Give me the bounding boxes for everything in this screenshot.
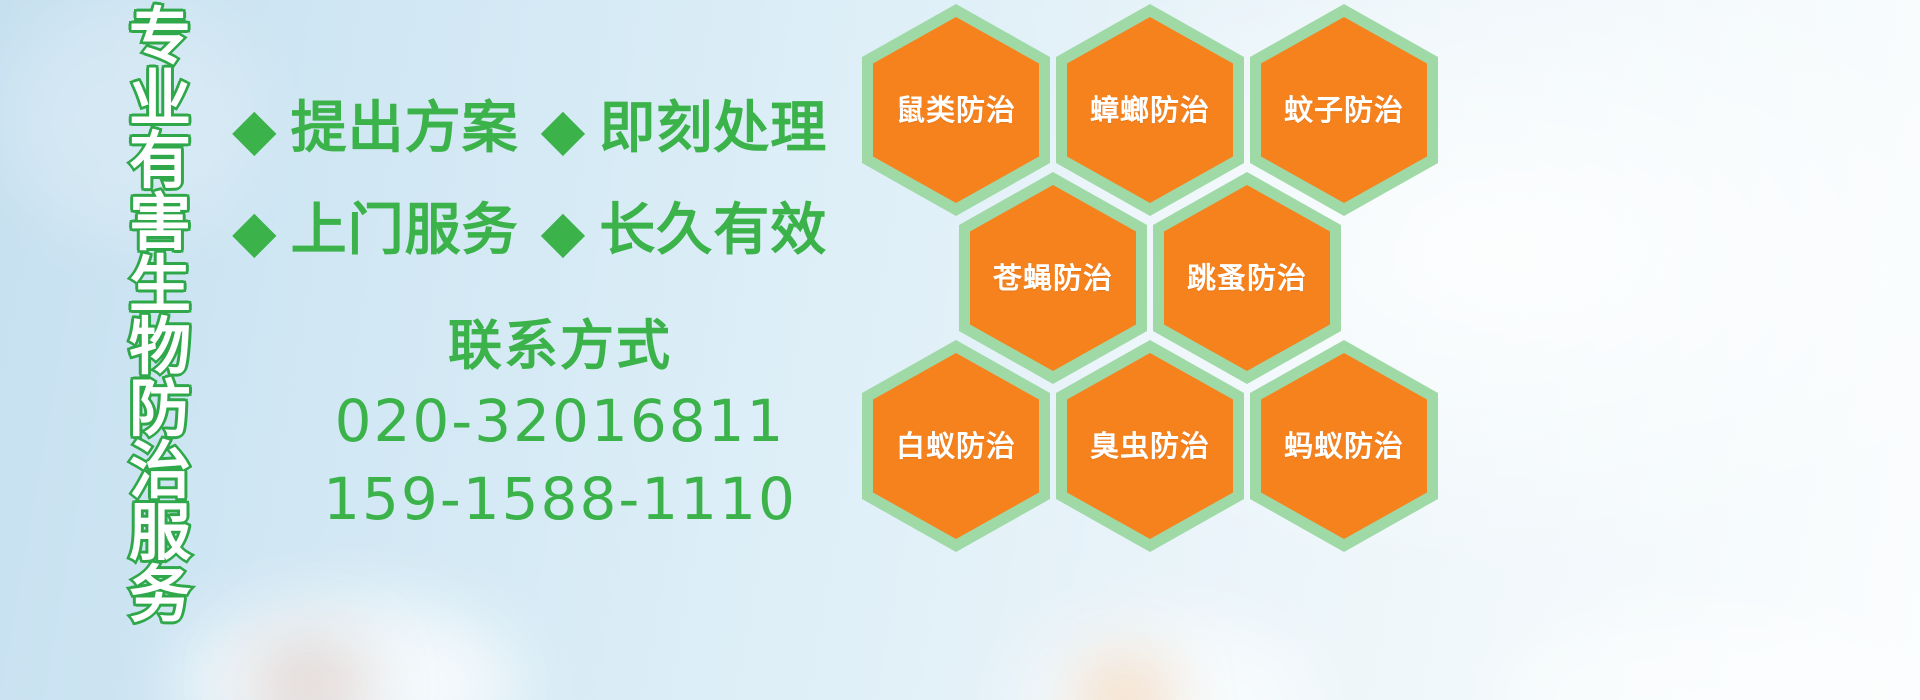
contact-title: 联系方式 [300, 310, 820, 382]
contact-block: 联系方式 020-32016811 159-1588-1110 [300, 310, 820, 538]
promo-banner: 专 业 有 害 生 物 防 治 服 务 ◆ 提出方案 ◆ 即刻处理 ◆ 上门服务 [0, 0, 1920, 700]
background-blur-blob [250, 640, 370, 700]
vertical-headline-char: 防 [129, 378, 191, 440]
service-hex-fly[interactable]: 苍蝇防治 [959, 172, 1147, 384]
service-hex-mosquito[interactable]: 蚊子防治 [1250, 4, 1438, 216]
feature-row: ◆ 提出方案 ◆ 即刻处理 [232, 78, 872, 180]
service-hex-label: 蚂蚁防治 [1284, 429, 1404, 463]
vertical-headline-char: 害 [129, 192, 191, 254]
service-hex-label: 蚊子防治 [1284, 93, 1404, 127]
service-honeycomb: 鼠类防治 蟑螂防治 蚊子防治 苍蝇防治 跳蚤防治 白蚁防治 臭虫防治 蚂蚁 [862, 0, 1462, 556]
vertical-headline-char: 业 [129, 68, 191, 130]
background-blur-blob [1080, 660, 1170, 700]
feature-item-propose-plan: ◆ 提出方案 [232, 98, 519, 160]
service-hex-label: 鼠类防治 [896, 93, 1016, 127]
feature-item-onsite-service: ◆ 上门服务 [232, 200, 519, 262]
service-hex-flea[interactable]: 跳蚤防治 [1153, 172, 1341, 384]
contact-phone-mobile[interactable]: 159-1588-1110 [300, 460, 820, 538]
vertical-headline-char: 有 [129, 130, 191, 192]
background-blur-blob [1500, 610, 1920, 700]
feature-label: 上门服务 [291, 200, 519, 262]
feature-label: 即刻处理 [599, 98, 827, 160]
background-blur-blob [1020, 620, 1320, 700]
feature-label: 提出方案 [291, 98, 519, 160]
service-hex-label: 臭虫防治 [1090, 429, 1210, 463]
feature-item-immediate-handling: ◆ 即刻处理 [541, 98, 828, 160]
service-hex-label: 蟑螂防治 [1090, 93, 1210, 127]
service-hex-cockroach[interactable]: 蟑螂防治 [1056, 4, 1244, 216]
vertical-headline-char: 专 [129, 6, 191, 68]
vertical-headline-char: 生 [129, 254, 191, 316]
vertical-headline-char: 治 [129, 440, 191, 502]
service-hex-label: 白蚁防治 [896, 429, 1016, 463]
service-hex-label: 跳蚤防治 [1187, 261, 1307, 295]
vertical-headline-char: 务 [129, 564, 191, 626]
vertical-headline: 专 业 有 害 生 物 防 治 服 务 [108, 6, 212, 566]
service-hex-label: 苍蝇防治 [993, 261, 1113, 295]
service-hex-ant[interactable]: 蚂蚁防治 [1250, 340, 1438, 552]
feature-item-long-lasting: ◆ 长久有效 [541, 200, 828, 262]
vertical-headline-char: 物 [129, 316, 191, 378]
diamond-bullet-icon: ◆ [232, 100, 277, 158]
contact-phone-landline[interactable]: 020-32016811 [300, 382, 820, 460]
vertical-headline-char: 服 [129, 502, 191, 564]
feature-label: 长久有效 [599, 200, 827, 262]
service-hex-bedbug[interactable]: 臭虫防治 [1056, 340, 1244, 552]
diamond-bullet-icon: ◆ [541, 202, 586, 260]
background-blur-blob [180, 600, 520, 700]
diamond-bullet-icon: ◆ [232, 202, 277, 260]
feature-list: ◆ 提出方案 ◆ 即刻处理 ◆ 上门服务 ◆ 长久有效 [232, 78, 872, 282]
service-hex-rodent[interactable]: 鼠类防治 [862, 4, 1050, 216]
feature-row: ◆ 上门服务 ◆ 长久有效 [232, 180, 872, 282]
diamond-bullet-icon: ◆ [541, 100, 586, 158]
service-hex-termite[interactable]: 白蚁防治 [862, 340, 1050, 552]
